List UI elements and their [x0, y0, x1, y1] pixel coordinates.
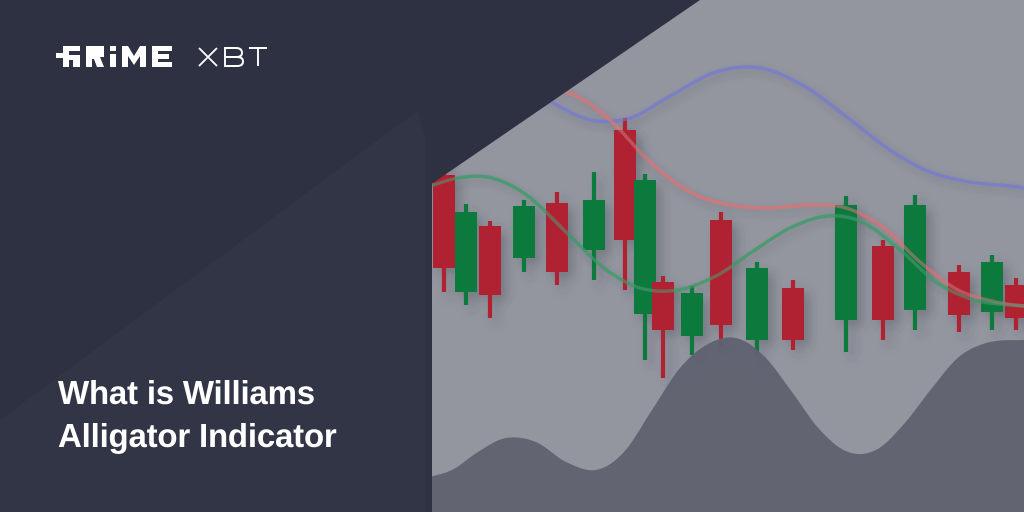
- hero-banner: What is Williams Alligator Indicator: [0, 0, 1024, 512]
- panel-seam: [425, 0, 432, 512]
- page-title-line-2: Alligator Indicator: [58, 415, 418, 458]
- brand-logo[interactable]: [56, 44, 269, 70]
- xbt-wordmark-icon: [197, 45, 269, 69]
- page-title-line-1: What is Williams: [58, 372, 418, 415]
- primexbt-logo-icon: [56, 44, 184, 70]
- diagonal-dark-wedge: [425, 0, 700, 185]
- page-title: What is Williams Alligator Indicator: [58, 372, 418, 458]
